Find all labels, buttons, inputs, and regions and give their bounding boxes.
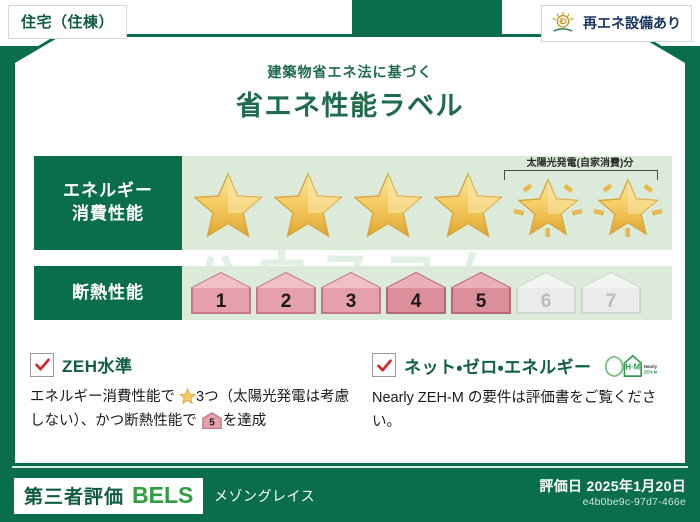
sun-energy-icon (550, 10, 576, 36)
zeh-desc-part3: を達成 (223, 413, 267, 429)
energy-performance-row: エネルギー 消費性能 太陽光発電(自家消費)分 (34, 156, 672, 250)
star-icon-3 (348, 168, 428, 242)
insulation-level-value: 3 (346, 291, 357, 313)
bels-en-label: BELS (132, 482, 193, 509)
label-title: 省エネ性能ラベル (0, 84, 700, 123)
pv-bracket-line (504, 170, 658, 180)
evaluation-date: 評価日 2025年1月20日 (539, 476, 686, 496)
net-zero-energy-header: ネット・ゼロ・エネルギー H·M Nearly ZEH-M (372, 352, 676, 378)
inline-house-icon: 5 (201, 412, 223, 429)
insulation-level-value: 1 (216, 291, 227, 313)
building-type-label: 住宅（住棟） (21, 14, 114, 31)
energy-label-line1: エネルギー (63, 180, 153, 203)
energy-performance-label: エネルギー 消費性能 (34, 156, 182, 250)
renewable-badge-label: 再エネ設備あり (583, 13, 681, 33)
insulation-level-3: 3 (320, 269, 382, 317)
insulation-label-text: 断熱性能 (72, 282, 144, 305)
renewable-equipment-badge: 再エネ設備あり (541, 5, 692, 42)
insulation-level-scale: 1 2 3 4 5 6 7 (182, 269, 642, 317)
criteria-section: ZEH水準 エネルギー消費性能で 3つ（太陽光発電は考慮しない）、かつ断熱性能で… (30, 352, 676, 435)
check-icon (372, 353, 396, 377)
inline-star-icon (179, 388, 196, 404)
zeh-standard-description: エネルギー消費性能で 3つ（太陽光発電は考慮しない）、かつ断熱性能で 5 を達成 (30, 386, 356, 434)
footer-bar: 第三者評価 BELS メゾングレイス 評価日 2025年1月20日 e4b0be… (0, 466, 700, 522)
insulation-level-value: 4 (411, 291, 422, 313)
zeh-standard-title: ZEH水準 (62, 352, 133, 377)
label-subtitle: 建築物省エネ法に基づく (0, 62, 700, 82)
building-type-badge: 住宅（住棟） (8, 5, 127, 39)
insulation-level-4: 4 (385, 269, 447, 317)
net-zero-energy-block: ネット・ゼロ・エネルギー H·M Nearly ZEH-M Nearly ZEH… (372, 352, 676, 435)
insulation-level-1: 1 (190, 269, 252, 317)
svg-text:ZEH-M: ZEH-M (643, 369, 657, 374)
property-name: メゾングレイス (214, 486, 315, 506)
evaluation-id: e4b0be9c-97d7-466e (583, 496, 686, 508)
zeh-standard-header: ZEH水準 (30, 352, 356, 377)
zeh-desc-part1: エネルギー消費性能で (30, 389, 175, 405)
energy-label-line2: 消費性能 (72, 203, 144, 226)
insulation-performance-row: 断熱性能 1 2 3 4 5 (34, 266, 672, 320)
insulation-level-6: 6 (515, 269, 577, 317)
insulation-level-value: 5 (476, 291, 487, 313)
insulation-levels-panel: 1 2 3 4 5 6 7 (182, 266, 672, 320)
insulation-level-2: 2 (255, 269, 317, 317)
insulation-level-value: 6 (541, 291, 552, 313)
insulation-level-value: 7 (606, 291, 617, 313)
bels-evaluation-badge: 第三者評価 BELS (14, 478, 203, 514)
net-zero-energy-title: ネット・ゼロ・エネルギー (404, 353, 592, 378)
footer-divider (12, 466, 688, 468)
zeh-m-logo-icon: H·M Nearly ZEH-M (600, 352, 658, 378)
star-icon-4 (428, 168, 508, 242)
star-icon-1 (188, 168, 268, 242)
insulation-level-7: 7 (580, 269, 642, 317)
insulation-level-value: 2 (281, 291, 292, 313)
bels-jp-label: 第三者評価 (24, 482, 124, 509)
insulation-performance-label: 断熱性能 (34, 266, 182, 320)
net-zero-energy-description: Nearly ZEH-M の要件は評価書をご覧ください。 (372, 387, 676, 435)
energy-stars-panel: 太陽光発電(自家消費)分 (182, 156, 672, 250)
svg-text:H·M: H·M (625, 363, 640, 372)
insulation-level-5: 5 (450, 269, 512, 317)
svg-text:5: 5 (209, 417, 215, 428)
svg-text:Nearly: Nearly (643, 364, 657, 369)
star-icon-2 (268, 168, 348, 242)
zeh-standard-block: ZEH水準 エネルギー消費性能で 3つ（太陽光発電は考慮しない）、かつ断熱性能で… (30, 352, 356, 435)
pv-bracket-label: 太陽光発電(自家消費)分 (496, 154, 664, 169)
check-icon (30, 353, 54, 377)
